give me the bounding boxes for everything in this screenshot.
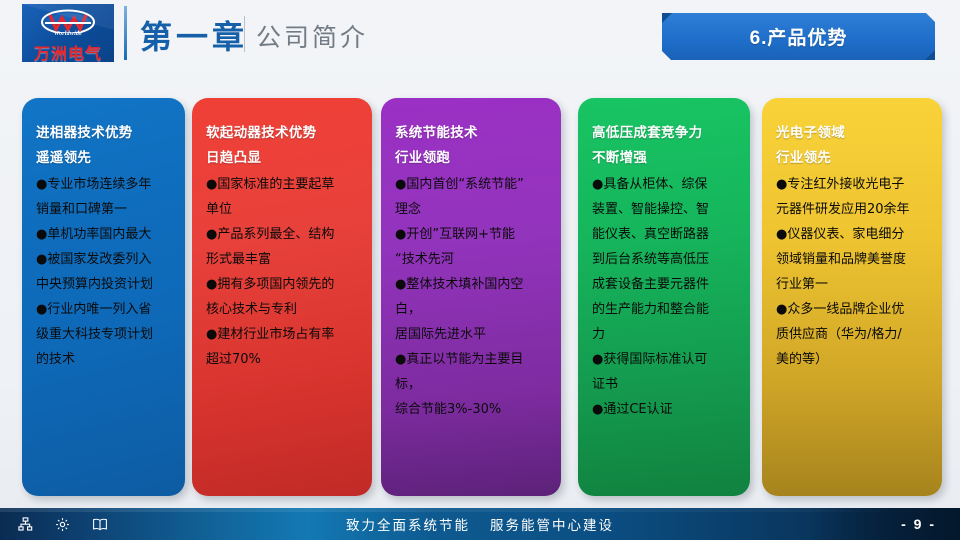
card-3-line-8: 综合节能3%-30% — [395, 397, 547, 422]
card-3-heading-line2: 行业领跑 — [395, 145, 547, 170]
card-3-line-6: 居国际先进水平 — [395, 322, 547, 347]
card-1-line-6: ●行业内唯一列入省 — [36, 297, 171, 322]
card-3-line-3: ●开创”互联网+节能 — [395, 222, 547, 247]
card-5-line-6: ●众多一线品牌企业优 — [776, 297, 928, 322]
card-5-heading-line2: 行业领先 — [776, 145, 928, 170]
footer-slogan-right: 服务能管中心建设 — [490, 514, 614, 534]
card-4-line-5: 成套设备主要元器件 — [592, 272, 736, 297]
slide-footer: 致力全面系统节能 服务能管中心建设 - 9 - — [0, 508, 960, 540]
page-number: - 9 - — [901, 508, 936, 540]
card-4-body: ●具备从柜体、综保 装置、智能操控、智 能仪表、真空断路器 到后台系统等高低压 … — [592, 172, 736, 422]
card-4-line-7: 力 — [592, 322, 736, 347]
card-1-line-7: 级重大科技专项计划 — [36, 322, 171, 347]
card-4-line-1: ●具备从柜体、综保 — [592, 172, 736, 197]
card-3-body: ●国内首创“系统节能” 理念 ●开创”互联网+节能 “技术先河 ●整体技术填补国… — [395, 172, 547, 422]
card-4-line-6: 的生产能力和整合能 — [592, 297, 736, 322]
card-2-line-4: 形式最丰富 — [206, 247, 358, 272]
card-4-line-3: 能仪表、真空断路器 — [592, 222, 736, 247]
card-3-heading-line1: 系统节能技术 — [395, 120, 547, 145]
card-advantage-4[interactable]: 高低压成套竞争力 不断增强 ●具备从柜体、综保 装置、智能操控、智 能仪表、真空… — [578, 98, 750, 496]
card-5-line-7: 质供应商（华为/格力/ — [776, 322, 928, 347]
card-5-heading-line1: 光电子领域 — [776, 120, 928, 145]
card-5-line-5: 行业第一 — [776, 272, 928, 297]
card-4-line-8: ●获得国际标准认可 — [592, 347, 736, 372]
card-3-line-7: ●真正以节能为主要目标， — [395, 347, 547, 397]
card-1-line-3: ●单机功率国内最大 — [36, 222, 171, 247]
card-2-line-5: ●拥有多项国内领先的 — [206, 272, 358, 297]
card-2-body: ●国家标准的主要起草 单位 ●产品系列最全、结构 形式最丰富 ●拥有多项国内领先… — [206, 172, 358, 372]
card-3-line-2: 理念 — [395, 197, 547, 222]
footer-slogan-left: 致力全面系统节能 — [346, 514, 470, 534]
card-4-heading-line1: 高低压成套竞争力 — [592, 120, 736, 145]
card-1-body: ●专业市场连续多年 销量和口碑第一 ●单机功率国内最大 ●被国家发改委列入 中央… — [36, 172, 171, 372]
card-2-line-6: 核心技术与专利 — [206, 297, 358, 322]
card-advantage-1[interactable]: 进相器技术优势 遥遥领先 ●专业市场连续多年 销量和口碑第一 ●单机功率国内最大… — [22, 98, 185, 496]
card-1-line-8: 的技术 — [36, 347, 171, 372]
card-4-heading-line2: 不断增强 — [592, 145, 736, 170]
card-2-line-2: 单位 — [206, 197, 358, 222]
card-4-line-10: ●通过CE认证 — [592, 397, 736, 422]
card-4-line-2: 装置、智能操控、智 — [592, 197, 736, 222]
card-5-line-2: 元器件研发应用20余年 — [776, 197, 928, 222]
card-1-line-2: 销量和口碑第一 — [36, 197, 171, 222]
card-1-line-1: ●专业市场连续多年 — [36, 172, 171, 197]
card-1-line-5: 中央预算内投资计划 — [36, 272, 171, 297]
card-4-line-4: 到后台系统等高低压 — [592, 247, 736, 272]
card-2-heading-line1: 软起动器技术优势 — [206, 120, 358, 145]
card-2-line-7: ●建材行业市场占有率 — [206, 322, 358, 347]
card-1-heading-line2: 遥遥领先 — [36, 145, 171, 170]
card-advantage-5[interactable]: 光电子领域 行业领先 ●专注红外接收光电子 元器件研发应用20余年 ●仪器仪表、… — [762, 98, 942, 496]
card-2-heading-line2: 日趋凸显 — [206, 145, 358, 170]
card-3-line-1: ●国内首创“系统节能” — [395, 172, 547, 197]
card-5-line-1: ●专注红外接收光电子 — [776, 172, 928, 197]
footer-slogan: 致力全面系统节能 服务能管中心建设 — [0, 508, 960, 540]
card-2-line-1: ●国家标准的主要起草 — [206, 172, 358, 197]
card-3-line-5: ●整体技术填补国内空白， — [395, 272, 547, 322]
card-2-line-8: 超过70% — [206, 347, 358, 372]
card-5-line-3: ●仪器仪表、家电细分 — [776, 222, 928, 247]
card-2-line-3: ●产品系列最全、结构 — [206, 222, 358, 247]
card-1-heading-line1: 进相器技术优势 — [36, 120, 171, 145]
card-5-body: ●专注红外接收光电子 元器件研发应用20余年 ●仪器仪表、家电细分 领域销量和品… — [776, 172, 928, 372]
advantage-cards: 进相器技术优势 遥遥领先 ●专业市场连续多年 销量和口碑第一 ●单机功率国内最大… — [0, 0, 960, 540]
card-4-line-9: 证书 — [592, 372, 736, 397]
card-1-line-4: ●被国家发改委列入 — [36, 247, 171, 272]
card-5-line-8: 美的等） — [776, 347, 928, 372]
card-advantage-2[interactable]: 软起动器技术优势 日趋凸显 ●国家标准的主要起草 单位 ●产品系列最全、结构 形… — [192, 98, 372, 496]
card-3-line-4: “技术先河 — [395, 247, 547, 272]
card-advantage-3[interactable]: 系统节能技术 行业领跑 ●国内首创“系统节能” 理念 ●开创”互联网+节能 “技… — [381, 98, 561, 496]
card-5-line-4: 领域销量和品牌美誉度 — [776, 247, 928, 272]
